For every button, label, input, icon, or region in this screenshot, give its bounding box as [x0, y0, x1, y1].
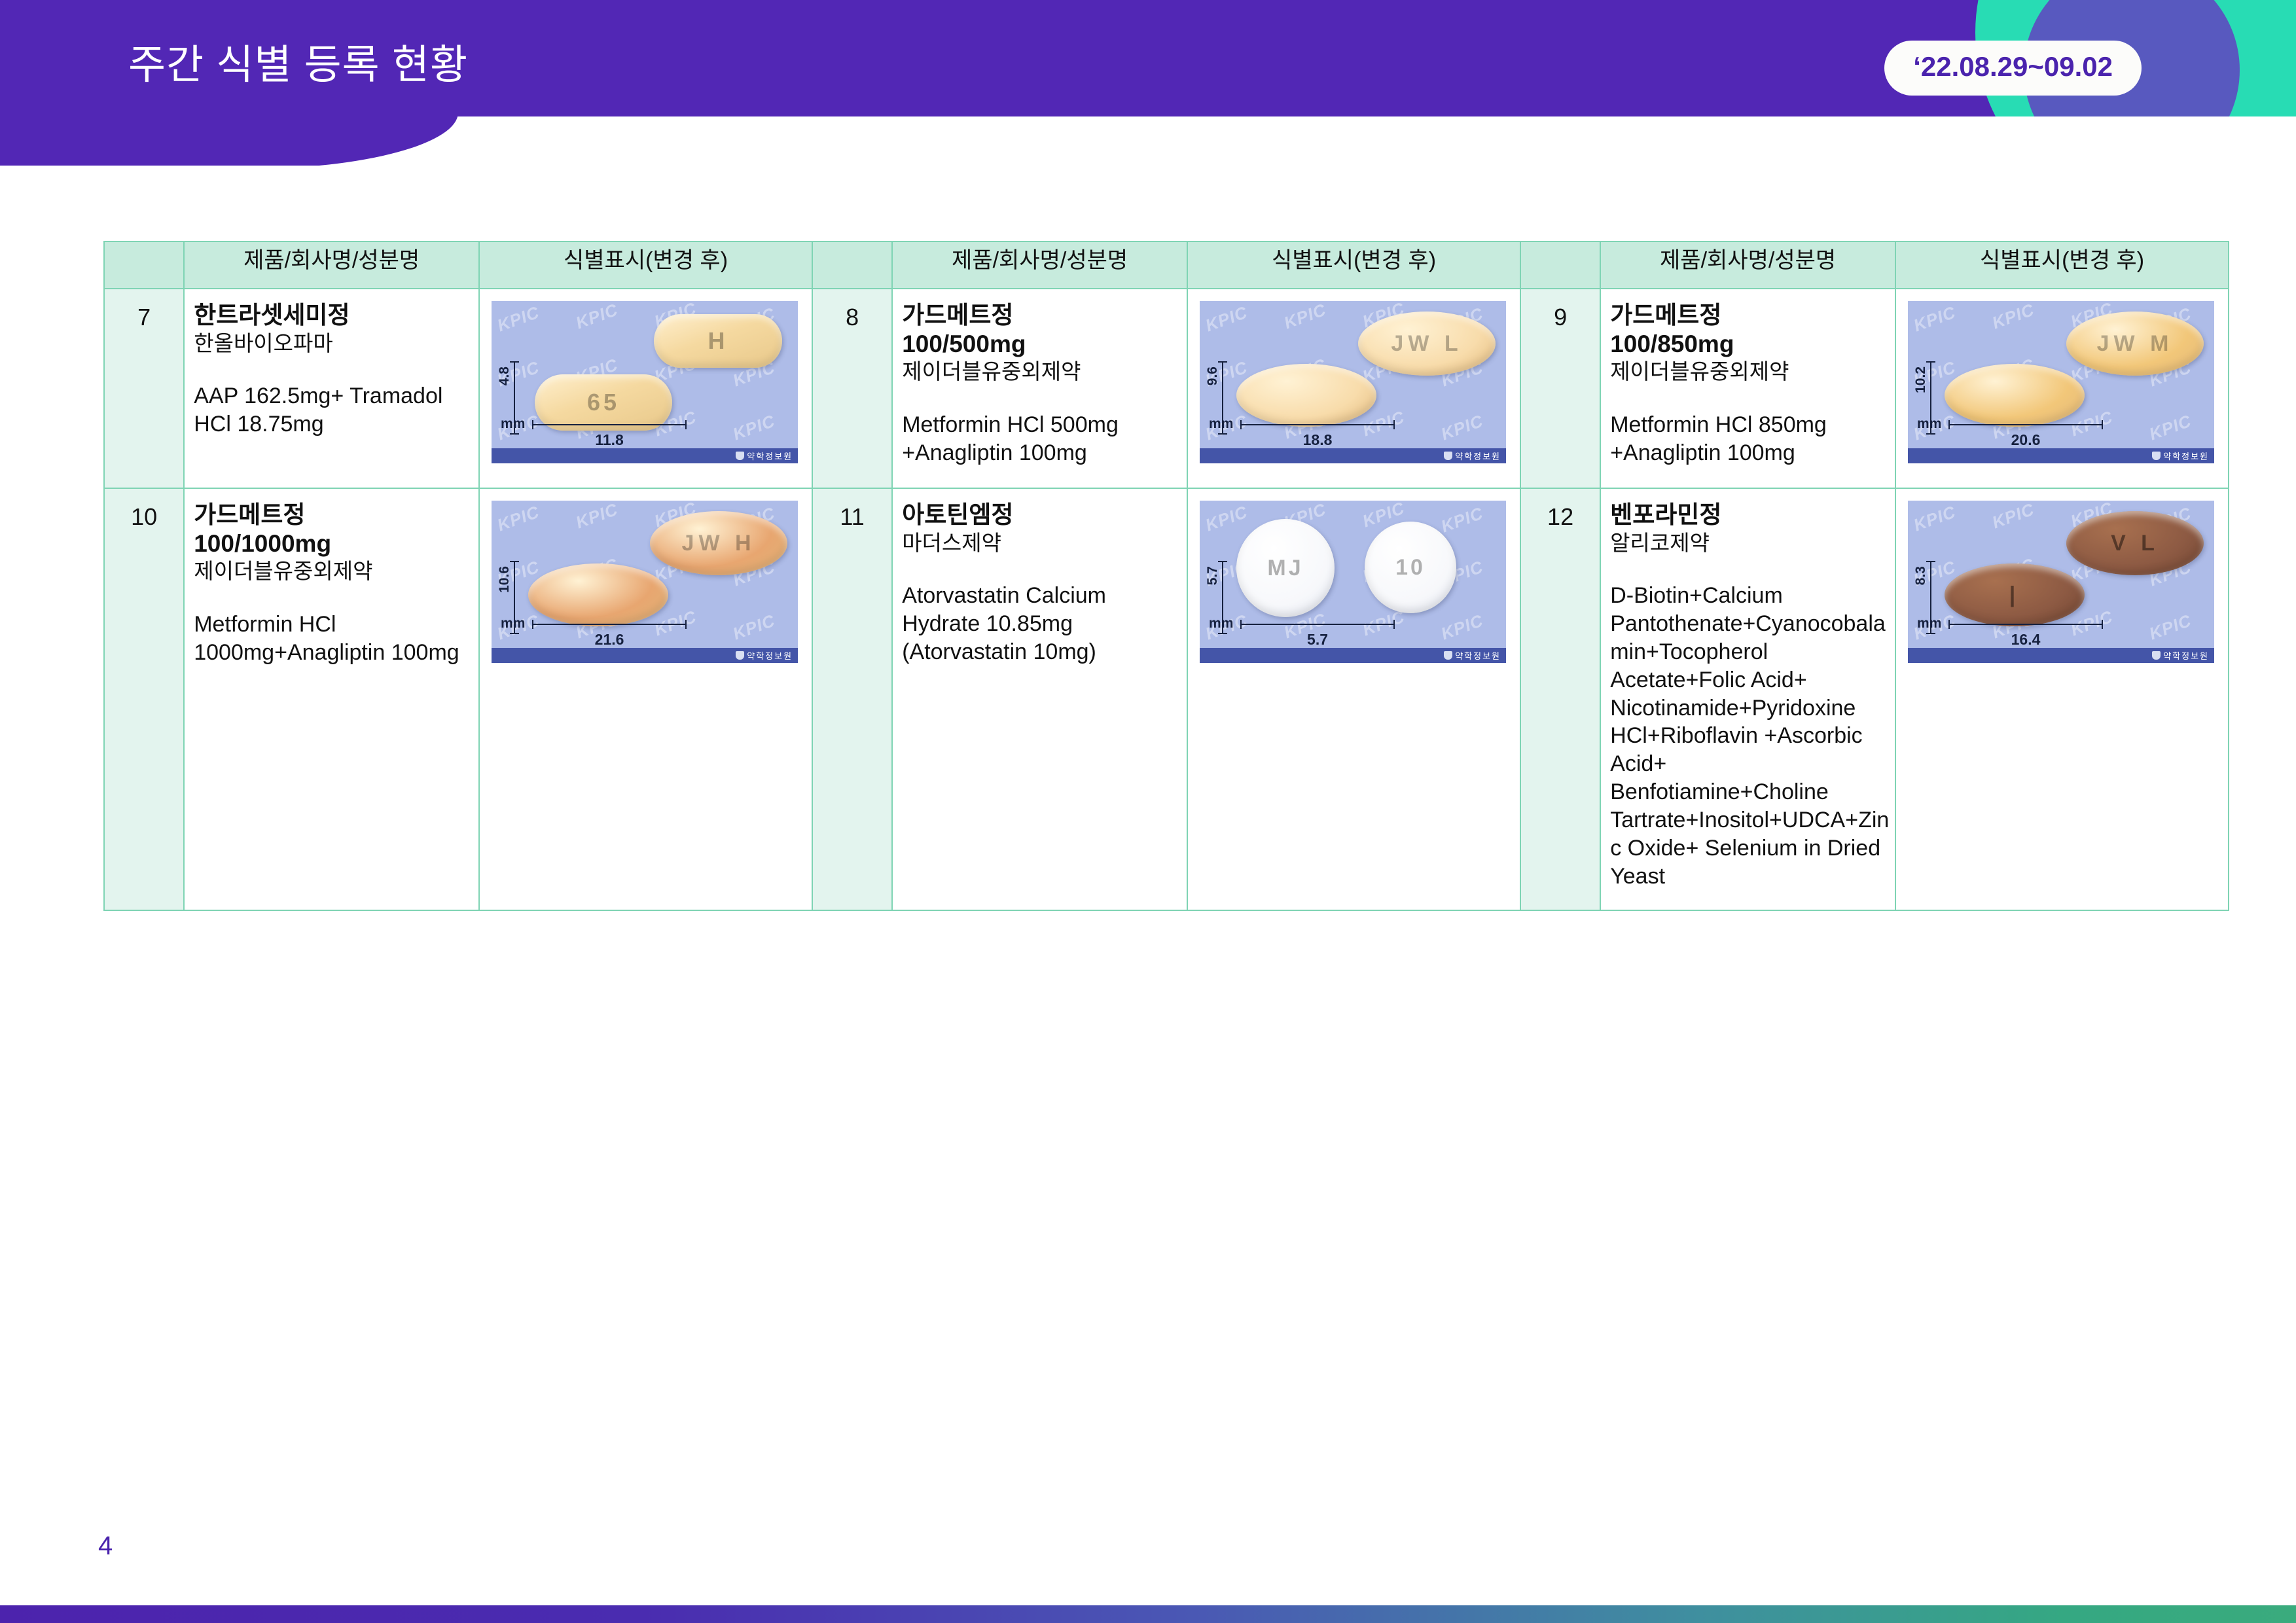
company-name: 제이더블유중외제약 [194, 558, 475, 584]
photo-source-label: 약학정보원 [1455, 649, 1501, 662]
ingredient-list: Metformin HCl 850mg +Anagliptin 100mg [1610, 411, 1891, 467]
ingredient-list: Metformin HCl 500mg +Anagliptin 100mg [902, 411, 1183, 467]
shield-icon [736, 452, 744, 460]
ingredient-list: AAP 162.5mg+ Tramadol HCl 18.75mg [194, 382, 475, 438]
width-ruler [1240, 424, 1395, 425]
pill-identification-photo: KPICKPICKPICKPICKPICKPICKPICKPICKPICKPIC… [1200, 301, 1506, 463]
kpic-watermark: KPIC [495, 502, 543, 536]
kpic-watermark: KPIC [1439, 503, 1486, 537]
kpic-watermark: KPIC [1990, 501, 2037, 533]
kpic-watermark: KPIC [730, 611, 778, 645]
company-name: 제이더블유중외제약 [902, 359, 1183, 385]
row-number-cell: 9 [1520, 289, 1600, 488]
width-measurement-label: 20.6 [1948, 431, 2103, 449]
header-image-col-3: 식별표시(변경 후) [1895, 241, 2229, 289]
date-range-badge: ‘22.08.29~09.02 [1884, 41, 2142, 96]
row-number-cell: 11 [812, 488, 892, 910]
product-info-cell: 벤포라민정알리코제약D-Biotin+Calcium Pantothenate+… [1600, 488, 1895, 910]
kpic-watermark: KPIC [573, 501, 621, 533]
pill-identification-photo: KPICKPICKPICKPICKPICKPICKPICKPICKPICKPIC… [1908, 501, 2214, 663]
photo-source-label: 약학정보원 [2163, 649, 2209, 662]
product-info-cell: 가드메트정100/1000mg제이더블유중외제약Metformin HCl 10… [184, 488, 479, 910]
product-name: 한트라셋세미정 [194, 301, 475, 330]
kpic-watermark: KPIC [1282, 301, 1329, 333]
tablet-back: 10 [1365, 522, 1456, 613]
shield-icon [2152, 452, 2161, 460]
header-num-col-2 [812, 241, 892, 289]
table-row: 7한트라셋세미정한올바이오파마AAP 162.5mg+ Tramadol HCl… [104, 289, 2229, 488]
product-info-cell: 한트라셋세미정한올바이오파마AAP 162.5mg+ Tramadol HCl … [184, 289, 479, 488]
width-measurement-label: 11.8 [532, 431, 687, 449]
photo-source-footer: 약학정보원 [1908, 448, 2214, 463]
shield-icon [1444, 651, 1452, 660]
table-body: 7한트라셋세미정한올바이오파마AAP 162.5mg+ Tramadol HCl… [104, 289, 2229, 910]
unit-label: mm [1917, 616, 1941, 632]
width-ruler [532, 624, 687, 625]
row-number-cell: 7 [104, 289, 184, 488]
header-info-col-3: 제품/회사명/성분명 [1600, 241, 1895, 289]
drug-registration-table-wrapper: 제품/회사명/성분명 식별표시(변경 후) 제품/회사명/성분명 식별표시(변경… [103, 241, 2229, 911]
header-num-col-3 [1520, 241, 1600, 289]
pill-identification-photo: KPICKPICKPICKPICKPICKPICKPICKPICKPICKPIC… [492, 301, 798, 463]
pill-image-cell: KPICKPICKPICKPICKPICKPICKPICKPICKPICKPIC… [1187, 289, 1520, 488]
height-measurement-label: 4.8 [497, 366, 512, 385]
height-measurement-label: 5.7 [1205, 566, 1221, 585]
table-row: 10가드메트정100/1000mg제이더블유중외제약Metformin HCl … [104, 488, 2229, 910]
row-number-cell: 12 [1520, 488, 1600, 910]
width-measurement-label: 5.7 [1240, 631, 1395, 649]
ingredient-list: D-Biotin+Calcium Pantothenate+Cyanocobal… [1610, 582, 1891, 890]
drug-registration-table: 제품/회사명/성분명 식별표시(변경 후) 제품/회사명/성분명 식별표시(변경… [103, 241, 2229, 911]
width-ruler [532, 424, 687, 425]
width-measurement-label: 21.6 [532, 631, 687, 649]
pill-image-cell: KPICKPICKPICKPICKPICKPICKPICKPICKPICKPIC… [1895, 488, 2229, 910]
height-measurement-label: 10.2 [1913, 366, 1929, 393]
unit-label: mm [1917, 416, 1941, 432]
kpic-watermark: KPIC [730, 411, 778, 445]
photo-source-label: 약학정보원 [1455, 450, 1501, 462]
width-ruler [1240, 624, 1395, 625]
kpic-watermark: KPIC [1439, 411, 1486, 445]
product-name: 가드메트정 [1610, 301, 1891, 330]
photo-source-footer: 약학정보원 [492, 648, 798, 663]
table-header-row: 제품/회사명/성분명 식별표시(변경 후) 제품/회사명/성분명 식별표시(변경… [104, 241, 2229, 289]
product-info-cell: 아토틴엠정마더스제약Atorvastatin Calcium Hydrate 1… [892, 488, 1187, 910]
photo-source-label: 약학정보원 [747, 649, 793, 662]
pill-identification-photo: KPICKPICKPICKPICKPICKPICKPICKPICKPICKPIC… [1908, 301, 2214, 463]
header-num-col-1 [104, 241, 184, 289]
width-measurement-label: 16.4 [1948, 631, 2103, 649]
tablet-front: 65 [535, 374, 672, 431]
kpic-watermark: KPIC [1911, 302, 1959, 336]
tablet-back: JW L [1358, 312, 1496, 376]
kpic-watermark: KPIC [2147, 411, 2195, 445]
row-number-cell: 10 [104, 488, 184, 910]
tablet-front [1945, 364, 2085, 427]
header-info-col-2: 제품/회사명/성분명 [892, 241, 1187, 289]
shield-icon [2152, 651, 2161, 660]
kpic-watermark: KPIC [1439, 611, 1486, 645]
shield-icon [1444, 452, 1452, 460]
row-number-cell: 8 [812, 289, 892, 488]
product-dose: 100/500mg [902, 330, 1183, 359]
pill-image-cell: KPICKPICKPICKPICKPICKPICKPICKPICKPICKPIC… [479, 289, 812, 488]
pill-identification-photo: KPICKPICKPICKPICKPICKPICKPICKPICKPICKPIC… [492, 501, 798, 663]
ingredient-list: Metformin HCl 1000mg+Anagliptin 100mg [194, 611, 475, 667]
page-title: 주간 식별 등록 현황 [128, 31, 468, 90]
width-measurement-label: 18.8 [1240, 431, 1395, 449]
pill-image-cell: KPICKPICKPICKPICKPICKPICKPICKPICKPICKPIC… [479, 488, 812, 910]
tablet-front [528, 563, 668, 626]
company-name: 제이더블유중외제약 [1610, 359, 1891, 385]
pill-image-cell: KPICKPICKPICKPICKPICKPICKPICKPICKPICKPIC… [1895, 289, 2229, 488]
photo-source-footer: 약학정보원 [1908, 648, 2214, 663]
photo-source-label: 약학정보원 [2163, 450, 2209, 462]
unit-label: mm [1209, 416, 1233, 432]
company-name: 한올바이오파마 [194, 330, 475, 357]
kpic-watermark: KPIC [1203, 302, 1251, 336]
unit-label: mm [501, 616, 525, 632]
photo-source-label: 약학정보원 [747, 450, 793, 462]
product-info-cell: 가드메트정100/500mg제이더블유중외제약Metformin HCl 500… [892, 289, 1187, 488]
photo-source-footer: 약학정보원 [1200, 648, 1506, 663]
kpic-watermark: KPIC [495, 302, 543, 336]
kpic-watermark: KPIC [1203, 502, 1251, 536]
page-number: 4 [98, 1531, 113, 1561]
tablet-back: JW H [650, 511, 787, 575]
product-dose: 100/1000mg [194, 529, 475, 558]
bottom-gradient-bar [0, 1605, 2296, 1623]
width-ruler [1948, 424, 2103, 425]
tablet-back: H [654, 314, 782, 368]
tablet-front [1236, 364, 1376, 427]
product-name: 벤포라민정 [1610, 501, 1891, 529]
product-dose: 100/850mg [1610, 330, 1891, 359]
pill-identification-photo: KPICKPICKPICKPICKPICKPICKPICKPICKPICKPIC… [1200, 501, 1506, 663]
ingredient-list: Atorvastatin Calcium Hydrate 10.85mg (At… [902, 582, 1183, 666]
kpic-watermark: KPIC [1911, 502, 1959, 536]
kpic-watermark: KPIC [1990, 301, 2037, 333]
product-name: 가드메트정 [902, 301, 1183, 330]
shield-icon [736, 651, 744, 660]
tablet-back: JW M [2066, 312, 2204, 376]
product-name: 아토틴엠정 [902, 501, 1183, 529]
pill-image-cell: KPICKPICKPICKPICKPICKPICKPICKPICKPICKPIC… [1187, 488, 1520, 910]
height-measurement-label: 10.6 [497, 566, 512, 593]
header-image-col-2: 식별표시(변경 후) [1187, 241, 1520, 289]
company-name: 알리코제약 [1610, 530, 1891, 556]
height-measurement-label: 8.3 [1913, 566, 1929, 585]
unit-label: mm [1209, 616, 1233, 632]
header-info-col-1: 제품/회사명/성분명 [184, 241, 479, 289]
kpic-watermark: KPIC [573, 301, 621, 333]
header-image-col-1: 식별표시(변경 후) [479, 241, 812, 289]
tablet-front: | [1945, 563, 2085, 626]
photo-source-footer: 약학정보원 [1200, 448, 1506, 463]
tablet-front: MJ [1236, 519, 1335, 617]
unit-label: mm [501, 416, 525, 432]
tablet-back: V L [2066, 511, 2204, 575]
photo-source-footer: 약학정보원 [492, 448, 798, 463]
product-info-cell: 가드메트정100/850mg제이더블유중외제약Metformin HCl 850… [1600, 289, 1895, 488]
company-name: 마더스제약 [902, 530, 1183, 556]
product-name: 가드메트정 [194, 501, 475, 529]
height-measurement-label: 9.6 [1205, 366, 1221, 385]
width-ruler [1948, 624, 2103, 625]
kpic-watermark: KPIC [2147, 611, 2195, 645]
